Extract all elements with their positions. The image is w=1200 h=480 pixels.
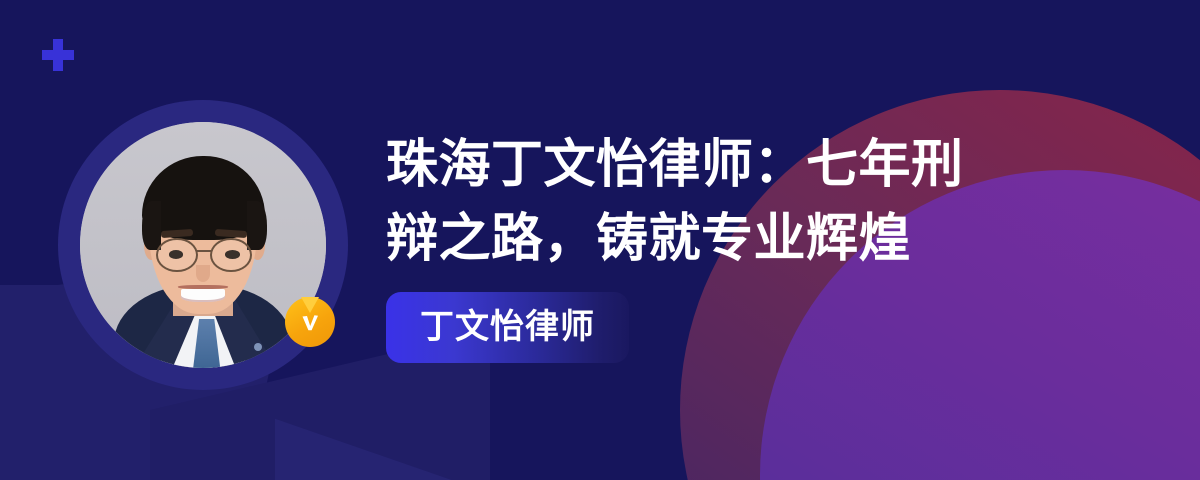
portrait-eyeglass-right (210, 238, 252, 272)
portrait-nose (196, 265, 211, 282)
page-title: 珠海丁文怡律师：七年刑 辩之路，铸就专业辉煌 (386, 128, 1086, 276)
lawyer-profile-banner: 珠海丁文怡律师：七年刑 辩之路，铸就专业辉煌 丁文怡律师 (0, 0, 1200, 480)
page-title-line-2: 辩之路，铸就专业辉煌 (386, 202, 1086, 276)
avatar[interactable] (58, 100, 348, 390)
plus-icon (42, 39, 74, 71)
page-title-line-1: 珠海丁文怡律师：七年刑 (386, 128, 1086, 202)
portrait-eyeglass-bridge (197, 250, 212, 252)
plus-icon-vertical-bar (53, 39, 63, 71)
verified-check-v-icon (285, 297, 335, 347)
portrait-hair-side-left (142, 201, 162, 250)
portrait-lapel-pin (254, 343, 262, 351)
portrait-mouth (181, 289, 225, 301)
portrait-eyeglass-left (156, 238, 198, 272)
lawyer-name-chip[interactable]: 丁文怡律师 (386, 292, 629, 363)
portrait-hair-side-right (247, 201, 267, 250)
headline-block: 珠海丁文怡律师：七年刑 辩之路，铸就专业辉煌 丁文怡律师 (386, 128, 1086, 363)
